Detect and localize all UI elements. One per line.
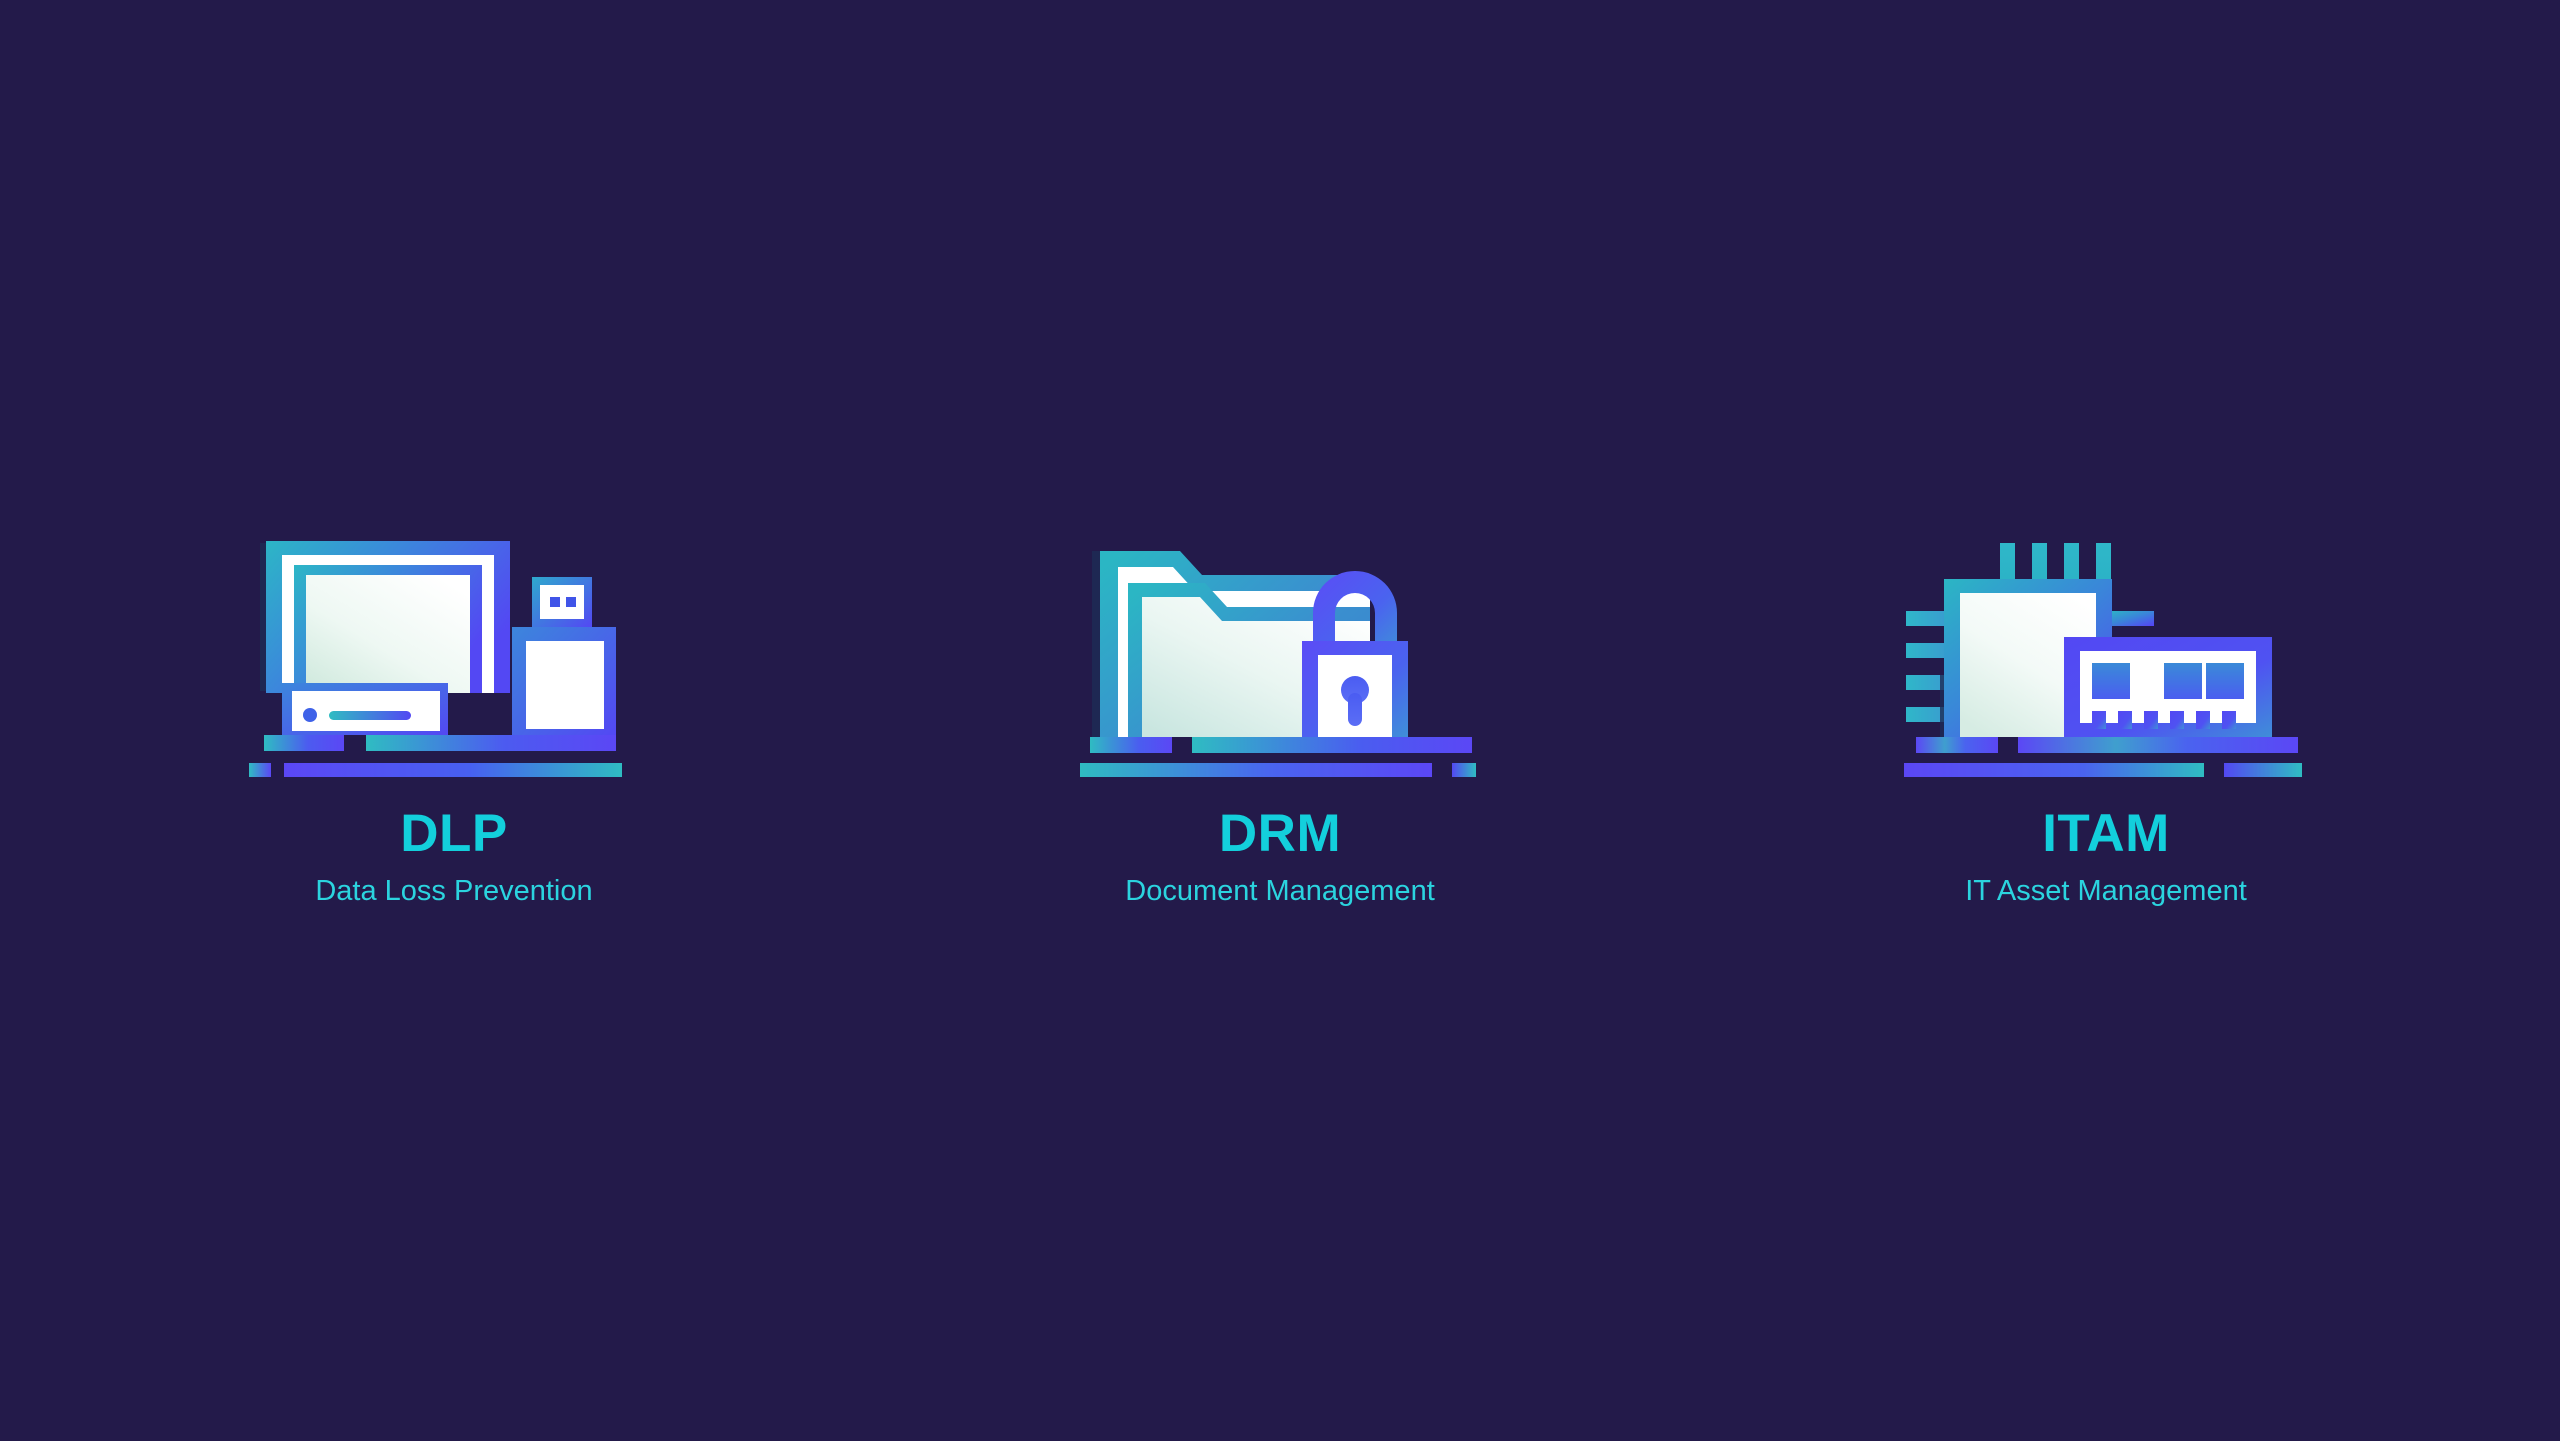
dlp-laptop-base-right (366, 735, 616, 751)
itam-hardware-icon (1896, 535, 2316, 785)
card-subtitle-itam: IT Asset Management (1965, 877, 2247, 906)
dlp-devices-icon (244, 535, 664, 785)
card-title-drm: DRM (1219, 807, 1341, 860)
dlp-usb-body-face (526, 641, 604, 729)
card-title-itam: ITAM (2042, 807, 2170, 860)
dlp-laptop-screen-display (306, 575, 470, 693)
solution-card-dlp[interactable]: DLP Data Loss Prevention (44, 535, 864, 906)
solution-card-itam[interactable]: ITAM IT Asset Management (1696, 535, 2516, 906)
canvas: DLP Data Loss Prevention (0, 0, 2560, 1441)
itam-desk-bar (1904, 763, 2204, 777)
dlp-drive-slot (329, 711, 411, 720)
drm-padlock-keyhole-stem (1348, 693, 1362, 726)
itam-laptop-base-left (1916, 737, 1998, 753)
dlp-usb-contact-right (566, 597, 576, 607)
itam-ram-chips (2092, 663, 2244, 699)
itam-desk-bar-stub (2224, 763, 2302, 777)
dlp-usb-connector-face (540, 585, 584, 619)
itam-laptop-base-right (2018, 737, 2298, 753)
card-title-dlp: DLP (400, 807, 508, 860)
itam-chip-pins-top (2000, 543, 2111, 585)
drm-laptop-base-left (1090, 737, 1172, 753)
drm-desk-bar-stub (1452, 763, 1476, 777)
dlp-laptop-base-left (264, 735, 344, 751)
drm-laptop-base-right (1192, 737, 1472, 753)
card-subtitle-drm: Document Management (1125, 877, 1435, 906)
dlp-drive-led (303, 708, 317, 722)
dlp-desk-bar (284, 763, 622, 777)
dlp-usb-contact-left (550, 597, 560, 607)
dlp-desk-bar-stub (249, 763, 271, 777)
solution-card-drm[interactable]: DRM Document Management (870, 535, 1690, 906)
card-subtitle-dlp: Data Loss Prevention (315, 877, 592, 906)
solution-card-row: DLP Data Loss Prevention (0, 0, 2560, 1441)
drm-desk-bar (1080, 763, 1432, 777)
drm-folder-lock-icon (1070, 535, 1490, 785)
